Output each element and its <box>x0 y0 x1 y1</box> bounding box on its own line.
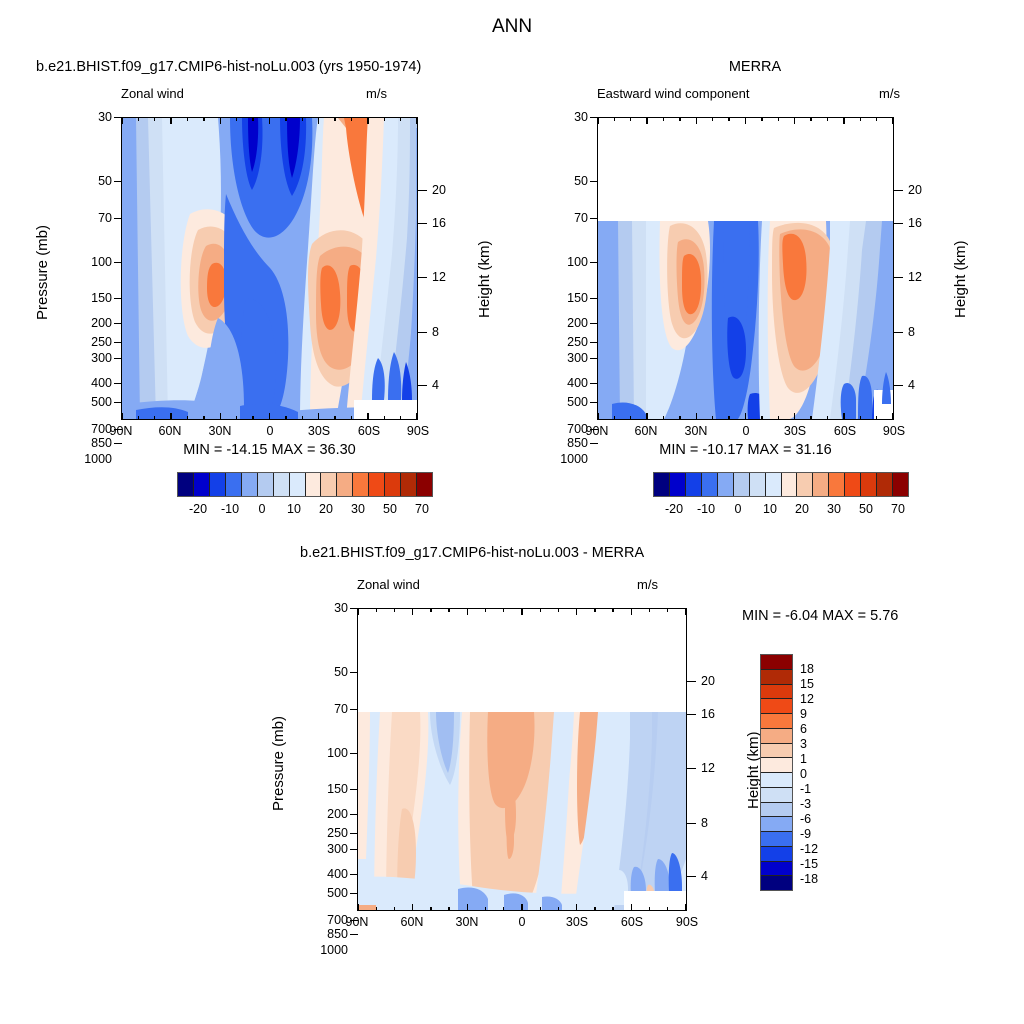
colorbar-cell <box>761 714 792 729</box>
model-units-label: m/s <box>366 86 387 101</box>
x-tickmark <box>503 608 504 612</box>
y2-tick-4: 4 <box>432 378 439 392</box>
vcbar-label-6: 6 <box>800 722 807 736</box>
y-tick-1000: 1000 <box>294 943 348 957</box>
y-tickmark <box>350 814 358 815</box>
vcbar-label-9: 9 <box>800 707 807 721</box>
x-tickmark <box>685 904 686 911</box>
x-tickmark <box>384 117 385 121</box>
x-tickmark <box>269 413 270 420</box>
x-tickmark <box>318 413 319 420</box>
colorbar-cell <box>686 473 702 496</box>
y-tick-400: 400 <box>62 376 112 390</box>
colorbar-cell <box>761 685 792 700</box>
colorbar-cell <box>761 729 792 744</box>
diff-y-axis-label: Pressure (mb) <box>270 716 287 811</box>
x-tickmark <box>138 416 139 420</box>
x-tickmark <box>594 608 595 612</box>
y-tickmark <box>350 753 358 754</box>
y-tickmark <box>350 874 358 875</box>
y-tickmark <box>590 342 598 343</box>
vcbar-label-m15: -15 <box>800 857 818 871</box>
x-tickmark <box>892 117 893 124</box>
x-tickmark <box>614 416 615 420</box>
y2-tickmark <box>687 876 696 877</box>
y-tick-400: 400 <box>298 867 348 881</box>
x-tick-60S: 60S <box>825 424 865 438</box>
diff-variable-label: Zonal wind <box>357 577 420 592</box>
y2-tick-8: 8 <box>432 325 439 339</box>
cbar-label: 10 <box>279 502 309 516</box>
x-tickmark <box>154 416 155 420</box>
y2-tick-8: 8 <box>908 325 915 339</box>
cbar-label: -10 <box>215 502 245 516</box>
x-tickmark <box>138 117 139 121</box>
colorbar-cell <box>761 817 792 832</box>
x-tickmark <box>400 416 401 420</box>
y-tickmark <box>350 849 358 850</box>
y-tick-250: 250 <box>298 826 348 840</box>
y-tickmark <box>114 383 122 384</box>
y2-tick-16: 16 <box>908 216 922 230</box>
x-tickmark <box>860 117 861 121</box>
x-tickmark <box>679 117 680 121</box>
x-tickmark <box>876 416 877 420</box>
x-tickmark <box>876 117 877 121</box>
colorbar-cell <box>242 473 258 496</box>
y-tickmark <box>590 402 598 403</box>
cbar-label: 20 <box>787 502 817 516</box>
y-tickmark <box>114 323 122 324</box>
x-tickmark <box>843 413 844 420</box>
obs-contour-field <box>598 118 893 419</box>
colorbar-cell <box>194 473 210 496</box>
colorbar-cell <box>845 473 861 496</box>
vcbar-label-m9: -9 <box>800 827 811 841</box>
x-tickmark <box>649 907 650 911</box>
x-tickmark <box>667 608 668 612</box>
x-tickmark <box>376 608 377 612</box>
x-tickmark <box>594 907 595 911</box>
colorbar-cell <box>353 473 369 496</box>
x-tick-30N: 30N <box>447 915 487 929</box>
x-tickmark <box>467 904 468 911</box>
x-tickmark <box>576 608 577 615</box>
x-tickmark <box>810 117 811 121</box>
y2-tickmark <box>418 190 427 191</box>
model-minmax-text: MIN = -14.15 MAX = 36.30 <box>121 442 418 458</box>
x-tickmark <box>630 117 631 121</box>
x-tickmark <box>612 608 613 612</box>
x-tickmark <box>728 416 729 420</box>
x-tickmark <box>220 413 221 420</box>
y-tick-1000: 1000 <box>58 452 112 466</box>
x-tickmark <box>367 117 368 124</box>
x-tickmark <box>521 608 522 615</box>
colorbar-cell <box>761 788 792 803</box>
colorbar-cell <box>718 473 734 496</box>
y-tick-50: 50 <box>62 174 112 188</box>
y-tick-100: 100 <box>538 255 588 269</box>
cbar-label: 70 <box>883 502 913 516</box>
y-tickmark <box>114 218 122 219</box>
x-tickmark <box>860 416 861 420</box>
x-tickmark <box>485 907 486 911</box>
vcbar-label-3: 3 <box>800 737 807 751</box>
y-tickmark <box>114 298 122 299</box>
x-tickmark <box>448 608 449 612</box>
y-tick-500: 500 <box>298 886 348 900</box>
colorbar-cell <box>210 473 226 496</box>
colorbar-cell <box>761 803 792 818</box>
y-tick-70: 70 <box>298 702 348 716</box>
colorbar-cell <box>761 670 792 685</box>
x-tickmark <box>252 416 253 420</box>
colorbar-cell <box>417 473 432 496</box>
model-plot-frame <box>121 117 418 420</box>
colorbar-cell <box>337 473 353 496</box>
x-tick-90S: 90S <box>398 424 438 438</box>
model-y2-axis-label: Height (km) <box>476 240 493 318</box>
colorbar-cell <box>861 473 877 496</box>
x-tickmark <box>430 608 431 612</box>
x-tick-60S: 60S <box>349 424 389 438</box>
y-tick-50: 50 <box>538 174 588 188</box>
x-tick-0: 0 <box>250 424 290 438</box>
x-tickmark <box>614 117 615 121</box>
x-tickmark <box>121 413 122 420</box>
y2-tickmark <box>418 385 427 386</box>
y-tick-850: 850 <box>62 436 112 450</box>
x-tickmark <box>649 608 650 612</box>
x-tickmark <box>761 117 762 121</box>
x-tick-30S: 30S <box>557 915 597 929</box>
x-tickmark <box>485 608 486 612</box>
x-tickmark <box>843 117 844 124</box>
x-tickmark <box>696 117 697 124</box>
colorbar-cell <box>258 473 274 496</box>
cbar-label: 30 <box>343 502 373 516</box>
y-tick-250: 250 <box>538 335 588 349</box>
y2-tickmark <box>687 823 696 824</box>
y2-tickmark <box>687 714 696 715</box>
y2-tick-12: 12 <box>432 270 446 284</box>
x-tickmark <box>558 907 559 911</box>
x-tick-90N: 90N <box>101 424 141 438</box>
y-tick-200: 200 <box>538 316 588 330</box>
x-tickmark <box>394 907 395 911</box>
x-tickmark <box>302 117 303 121</box>
colorbar-cell <box>761 773 792 788</box>
vcbar-label-15: 15 <box>800 677 814 691</box>
x-tickmark <box>252 117 253 121</box>
x-tickmark <box>302 416 303 420</box>
y-tickmark <box>350 934 358 935</box>
colorbar-cell <box>782 473 798 496</box>
obs-colorbar[interactable] <box>653 472 909 497</box>
x-tickmark <box>187 416 188 420</box>
x-tickmark <box>503 907 504 911</box>
colorbar-cell <box>654 473 670 496</box>
x-tickmark <box>430 907 431 911</box>
cbar-label: -20 <box>183 502 213 516</box>
x-tickmark <box>794 413 795 420</box>
x-tick-30S: 30S <box>775 424 815 438</box>
diff-plot-frame <box>357 608 687 911</box>
y2-tick-4: 4 <box>701 869 708 883</box>
y-tick-500: 500 <box>62 395 112 409</box>
y-tick-300: 300 <box>538 351 588 365</box>
cbar-label: 50 <box>851 502 881 516</box>
x-tickmark <box>745 117 746 124</box>
x-tickmark <box>121 117 122 124</box>
x-tickmark <box>467 608 468 615</box>
y-tick-150: 150 <box>62 291 112 305</box>
x-tickmark <box>892 413 893 420</box>
y-tick-1000: 1000 <box>534 452 588 466</box>
y-tickmark <box>350 893 358 894</box>
x-tickmark <box>679 416 680 420</box>
colorbar-cell <box>306 473 322 496</box>
colorbar-cell <box>290 473 306 496</box>
y-tick-70: 70 <box>62 211 112 225</box>
x-tickmark <box>646 117 647 124</box>
y2-tickmark <box>687 681 696 682</box>
x-tickmark <box>745 413 746 420</box>
x-tickmark <box>810 416 811 420</box>
vcbar-label-0: 0 <box>800 767 807 781</box>
y-tickmark <box>590 181 598 182</box>
colorbar-cell <box>761 758 792 773</box>
x-tickmark <box>448 907 449 911</box>
model-colorbar[interactable] <box>177 472 433 497</box>
cbar-label: 0 <box>723 502 753 516</box>
cbar-label: 30 <box>819 502 849 516</box>
x-tickmark <box>630 416 631 420</box>
x-tickmark <box>236 117 237 121</box>
x-tickmark <box>712 416 713 420</box>
x-tickmark <box>663 117 664 121</box>
x-tick-30N: 30N <box>676 424 716 438</box>
obs-y2-axis-label: Height (km) <box>952 240 969 318</box>
y-tick-100: 100 <box>62 255 112 269</box>
colorbar-cell <box>670 473 686 496</box>
y-tickmark <box>114 358 122 359</box>
x-tick-90N: 90N <box>337 915 377 929</box>
y-tickmark <box>590 383 598 384</box>
y-tickmark <box>114 342 122 343</box>
colorbar-cell <box>401 473 417 496</box>
colorbar-cell <box>274 473 290 496</box>
vcbar-label-m18: -18 <box>800 872 818 886</box>
x-tickmark <box>154 117 155 121</box>
x-tick-0: 0 <box>502 915 542 929</box>
colorbar-cell <box>761 832 792 847</box>
y2-tick-16: 16 <box>432 216 446 230</box>
x-tickmark <box>236 416 237 420</box>
colorbar-cell <box>750 473 766 496</box>
colorbar-cell <box>761 876 792 890</box>
cbar-label: -20 <box>659 502 689 516</box>
y2-tick-12: 12 <box>701 761 715 775</box>
x-tickmark <box>761 416 762 420</box>
x-tick-60S: 60S <box>612 915 652 929</box>
x-tickmark <box>576 904 577 911</box>
cbar-label: 50 <box>375 502 405 516</box>
vcbar-label-1: 1 <box>800 752 807 766</box>
x-tickmark <box>357 608 358 615</box>
colorbar-cell <box>369 473 385 496</box>
colorbar-cell <box>702 473 718 496</box>
diff-contour-field <box>358 609 686 910</box>
x-tickmark <box>540 608 541 612</box>
x-tickmark <box>631 608 632 615</box>
x-tickmark <box>400 117 401 121</box>
y2-tickmark <box>418 332 427 333</box>
y-tickmark <box>350 672 358 673</box>
y-tick-70: 70 <box>538 211 588 225</box>
vcbar-label-m6: -6 <box>800 812 811 826</box>
y-tick-300: 300 <box>298 842 348 856</box>
model-variable-label: Zonal wind <box>121 86 184 101</box>
x-tick-60N: 60N <box>150 424 190 438</box>
x-tickmark <box>367 413 368 420</box>
y2-tick-16: 16 <box>701 707 715 721</box>
colorbar-cell <box>766 473 782 496</box>
x-tick-30N: 30N <box>200 424 240 438</box>
y-tick-300: 300 <box>62 351 112 365</box>
x-tickmark <box>778 416 779 420</box>
y-tickmark <box>114 402 122 403</box>
x-tickmark <box>612 907 613 911</box>
obs-units-label: m/s <box>879 86 900 101</box>
x-tick-60N: 60N <box>626 424 666 438</box>
y-tick-50: 50 <box>298 665 348 679</box>
figure-main-title: ANN <box>0 16 1024 38</box>
y-tick-200: 200 <box>298 807 348 821</box>
x-tickmark <box>597 413 598 420</box>
x-tickmark <box>412 608 413 615</box>
colorbar-cell <box>761 699 792 714</box>
x-tickmark <box>696 413 697 420</box>
model-y-axis-label: Pressure (mb) <box>34 225 51 320</box>
y-tickmark <box>590 298 598 299</box>
diff-units-label: m/s <box>637 577 658 592</box>
y-tick-500: 500 <box>538 395 588 409</box>
y2-tickmark <box>894 223 903 224</box>
y2-tickmark <box>418 223 427 224</box>
x-tickmark <box>728 117 729 121</box>
y-tick-30: 30 <box>298 601 348 615</box>
y-tickmark <box>114 181 122 182</box>
colorbar-cell <box>178 473 194 496</box>
x-tickmark <box>778 117 779 121</box>
x-tickmark <box>351 416 352 420</box>
model-contour-field <box>122 118 417 419</box>
cbar-label: 0 <box>247 502 277 516</box>
x-tickmark <box>203 416 204 420</box>
x-tickmark <box>318 117 319 124</box>
y-tick-250: 250 <box>62 335 112 349</box>
y2-tickmark <box>894 277 903 278</box>
x-tick-90S: 90S <box>874 424 914 438</box>
y-tickmark <box>350 709 358 710</box>
x-tickmark <box>269 117 270 124</box>
x-tickmark <box>334 117 335 121</box>
y2-tickmark <box>894 385 903 386</box>
vcbar-label-m12: -12 <box>800 842 818 856</box>
model-panel-title: b.e21.BHIST.f09_g17.CMIP6-hist-noLu.003 … <box>36 59 421 75</box>
y-tickmark <box>350 833 358 834</box>
x-tickmark <box>646 413 647 420</box>
colorbar-cell <box>321 473 337 496</box>
y-tick-30: 30 <box>538 110 588 124</box>
cbar-label: 70 <box>407 502 437 516</box>
x-tickmark <box>521 904 522 911</box>
x-tickmark <box>376 907 377 911</box>
x-tick-90S: 90S <box>667 915 707 929</box>
x-tickmark <box>827 416 828 420</box>
vcbar-label-m1: -1 <box>800 782 811 796</box>
y2-tick-20: 20 <box>701 674 715 688</box>
colorbar-cell <box>734 473 750 496</box>
vcbar-label-12: 12 <box>800 692 814 706</box>
colorbar-cell <box>877 473 893 496</box>
x-tickmark <box>416 117 417 124</box>
colorbar-cell <box>761 655 792 670</box>
y-tick-100: 100 <box>298 746 348 760</box>
y-tick-150: 150 <box>538 291 588 305</box>
y-tick-30: 30 <box>62 110 112 124</box>
x-tick-90N: 90N <box>577 424 617 438</box>
x-tick-60N: 60N <box>392 915 432 929</box>
colorbar-cell <box>226 473 242 496</box>
x-tickmark <box>220 117 221 124</box>
colorbar-cell <box>761 847 792 862</box>
y-tickmark <box>590 262 598 263</box>
x-tickmark <box>170 117 171 124</box>
x-tickmark <box>285 416 286 420</box>
x-tickmark <box>558 608 559 612</box>
colorbar-cell <box>829 473 845 496</box>
x-tickmark <box>667 907 668 911</box>
y2-tickmark <box>894 190 903 191</box>
y-tick-150: 150 <box>298 782 348 796</box>
vcbar-label-m3: -3 <box>800 797 811 811</box>
x-tickmark <box>334 416 335 420</box>
x-tickmark <box>712 117 713 121</box>
diff-minmax-text: MIN = -6.04 MAX = 5.76 <box>742 608 898 624</box>
obs-panel-title: MERRA <box>605 59 905 75</box>
x-tick-30S: 30S <box>299 424 339 438</box>
y-tickmark <box>114 262 122 263</box>
cbar-label: 10 <box>755 502 785 516</box>
obs-minmax-text: MIN = -10.17 MAX = 31.16 <box>597 442 894 458</box>
y2-tick-4: 4 <box>908 378 915 392</box>
x-tickmark <box>285 117 286 121</box>
diff-colorbar[interactable] <box>760 654 793 891</box>
y2-tick-20: 20 <box>432 183 446 197</box>
y2-tickmark <box>894 332 903 333</box>
x-tickmark <box>203 117 204 121</box>
colorbar-cell <box>761 744 792 759</box>
colorbar-cell <box>893 473 908 496</box>
y-tick-850: 850 <box>298 927 348 941</box>
x-tickmark <box>187 117 188 121</box>
y-tick-400: 400 <box>538 376 588 390</box>
y2-tick-12: 12 <box>908 270 922 284</box>
x-tickmark <box>540 907 541 911</box>
